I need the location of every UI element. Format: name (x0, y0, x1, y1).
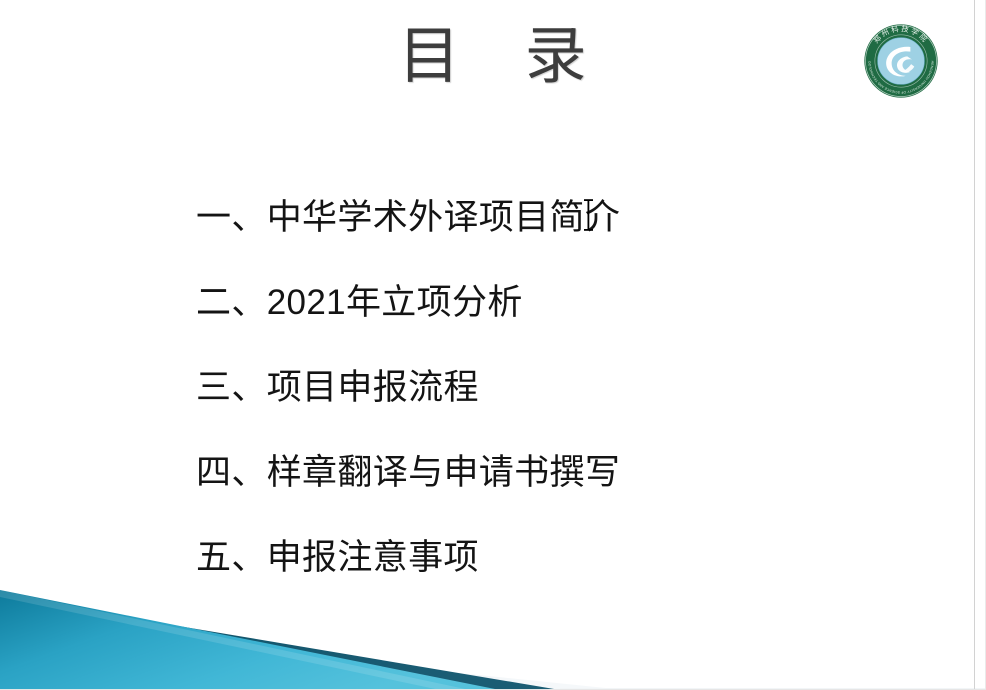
toc-item-label-5: 五、申报注意事项 (196, 538, 479, 578)
table-of-contents-list: 一、中华学术外译项目简介 二、2021年立项分析 三、项目申报流程 四、样章翻译… (196, 176, 836, 601)
university-seal-logo: 郑州科技学院 ZHENGZHOU UNIVERSITY OF SCIENCE A… (862, 22, 940, 100)
list-item[interactable]: 二、2021年立项分析 (196, 261, 836, 346)
toc-item-label-3: 三、项目申报流程 (196, 368, 479, 408)
list-item[interactable]: 一、中华学术外译项目简介 (196, 176, 836, 261)
list-item[interactable]: 五、申报注意事项 (196, 516, 836, 601)
frame-line-right (974, 0, 975, 690)
list-item[interactable]: 四、样章翻译与申请书撰写 (196, 431, 836, 516)
presentation-slide: 目 录 郑州科技学院 ZHENGZHOU UNIVERSITY OF (0, 0, 986, 690)
toc-item-label-2: 二、2021年立项分析 (196, 283, 523, 323)
page-title: 目 录 (0, 24, 986, 89)
toc-item-label-1: 一、中华学术外译项目简介 (196, 198, 620, 238)
list-item[interactable]: 三、项目申报流程 (196, 346, 836, 431)
toc-item-label-4: 四、样章翻译与申请书撰写 (196, 453, 620, 493)
